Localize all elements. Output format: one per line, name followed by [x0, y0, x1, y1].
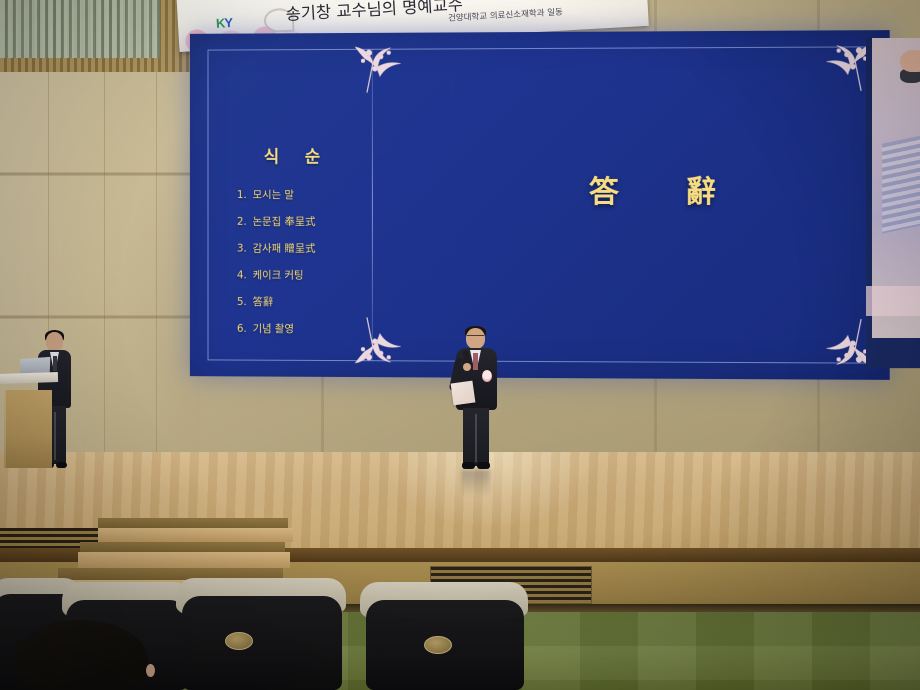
slide-main-title: 答 辭: [476, 167, 859, 211]
honoree-corsage-flower: [482, 370, 492, 382]
hand-image-icon: [900, 50, 920, 72]
led-presentation-screen: 식 순 1.모시는 말 2.논문집 奉呈式 3.감사패 贈呈式 4.케이크 커팅…: [190, 30, 890, 380]
honoree-glasses-icon: [467, 335, 484, 341]
program-item: 5.答辭: [237, 294, 371, 309]
honoree-hand: [463, 363, 471, 371]
program-item-number: 6.: [237, 323, 253, 335]
program-item-number: 2.: [237, 216, 253, 228]
honoree-floor-reflection: [462, 470, 490, 496]
program-title: 식 순: [223, 142, 371, 167]
program-item-number: 1.: [237, 189, 253, 201]
program-item-number: 4.: [237, 269, 253, 281]
program-item-list: 1.모시는 말 2.논문집 奉呈式 3.감사패 贈呈式 4.케이크 커팅 5.答…: [223, 187, 371, 336]
program-item-label: 기념 촬영: [253, 323, 294, 335]
ky-logo-y: Y: [224, 15, 232, 30]
program-item-number: 5.: [237, 296, 253, 308]
program-item-label: 감사패 贈呈式: [253, 243, 316, 255]
program-item-label: 答辭: [253, 296, 274, 308]
side-display-monitor: [866, 38, 920, 368]
banner-ky-logo: KY: [216, 15, 233, 31]
honoree-necktie: [473, 353, 478, 370]
program-item-label: 케이크 커팅: [253, 269, 304, 281]
honoree-shoe-left: [462, 462, 475, 469]
upper-glass-louvers: [0, 0, 160, 58]
seat-emblem-badge: [424, 636, 452, 654]
side-monitor-lower-band: [866, 286, 920, 316]
program-item: 1.모시는 말: [237, 187, 371, 202]
seat-back: [182, 596, 342, 690]
program-item-number: 3.: [237, 243, 253, 255]
speaking-podium: KY: [4, 390, 52, 468]
program-item: 6.기념 촬영: [237, 321, 371, 336]
step-tread-top: [98, 528, 293, 542]
mc-shoe-right: [56, 462, 67, 468]
seat-emblem-badge: [225, 632, 253, 650]
slide-vertical-divider: [372, 49, 373, 361]
program-item: 3.감사패 贈呈式: [237, 241, 371, 256]
honoree-professor: [448, 328, 508, 472]
program-item: 4.케이크 커팅: [237, 267, 371, 282]
honoree-leg-gap: [475, 414, 477, 462]
audience-member-head: [14, 620, 148, 690]
mc-leg-gap: [54, 412, 56, 460]
mc-necktie: [53, 356, 57, 371]
speech-paper: [451, 381, 476, 406]
auditorium-ceremony-scene: KY 송기창 교수님의 명예교수 건양대학교 의료신소재학과 일동: [0, 0, 920, 690]
step-tread-mid: [78, 552, 290, 568]
keyboard-image-icon: [882, 132, 920, 233]
audience-member-ear: [146, 664, 155, 677]
mc-head: [46, 332, 63, 351]
podium-top-surface: 건양대학교: [0, 372, 58, 384]
program-item-label: 논문집 奉呈式: [253, 216, 316, 228]
program-item: 2.논문집 奉呈式: [237, 214, 371, 229]
program-panel: 식 순 1.모시는 말 2.논문집 奉呈式 3.감사패 贈呈式 4.케이크 커팅…: [223, 142, 371, 348]
honoree-shoe-right: [477, 462, 490, 469]
program-item-label: 모시는 말: [253, 189, 294, 201]
